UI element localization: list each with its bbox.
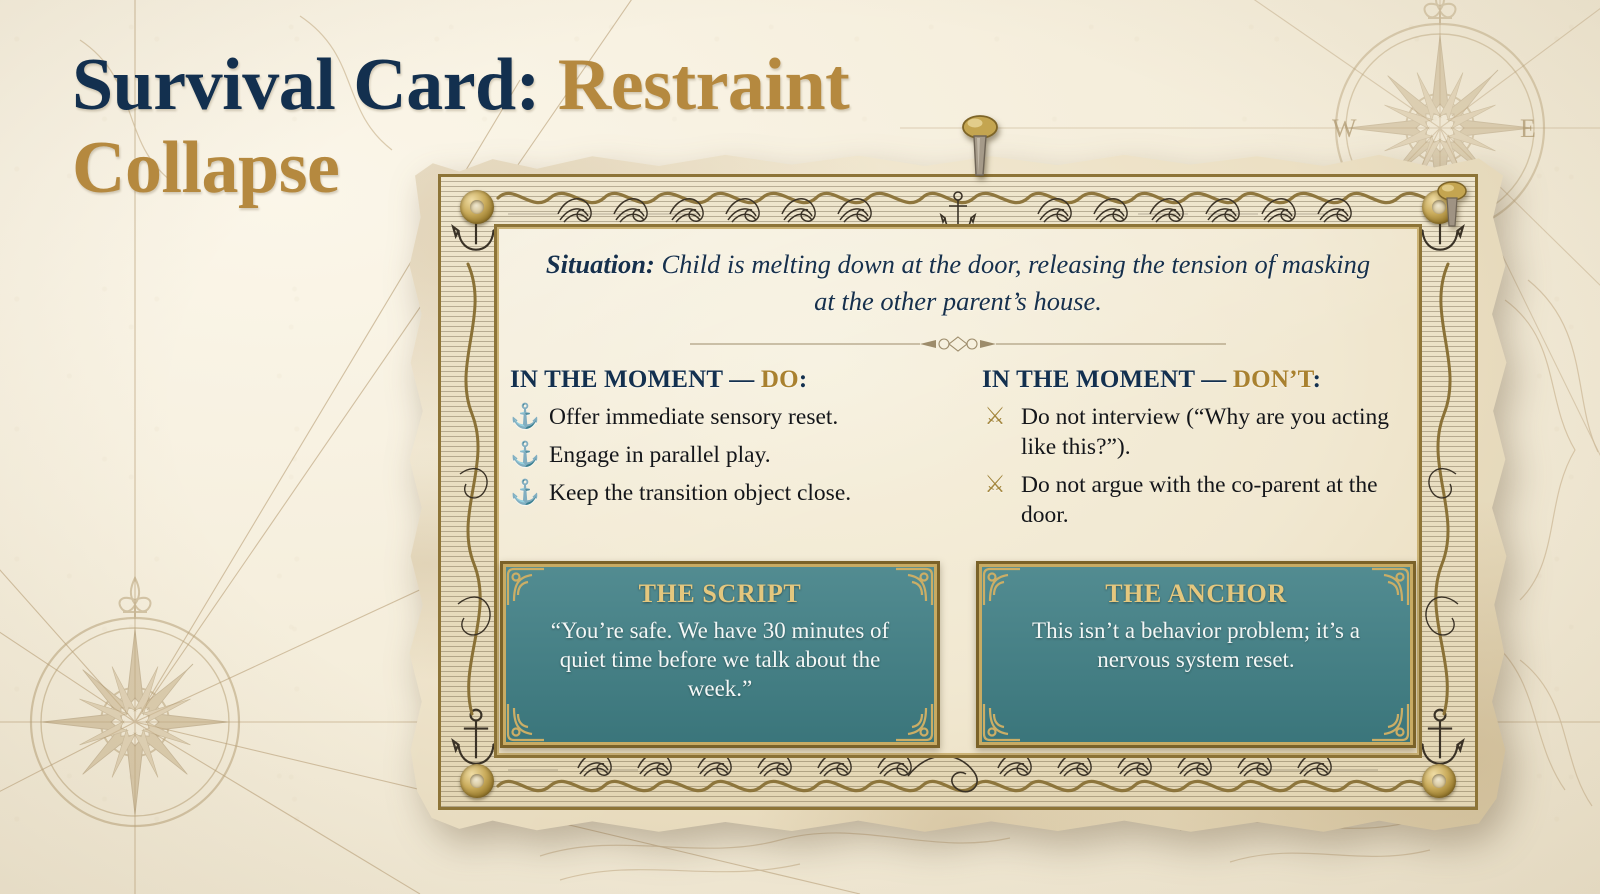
panel-the-script: THE SCRIPT “You’re safe. We have 30 minu… (500, 561, 940, 748)
poster-canvas: W E Survival Card: Restraint Collapse (0, 0, 1600, 894)
title-gold-part: Restraint (558, 44, 849, 126)
dont-list: ⚔ Do not interview (“Why are you acting … (982, 403, 1406, 530)
situation-label: Situation: (546, 249, 655, 279)
heading-accent: DON’T (1233, 366, 1313, 393)
list-item: ⚔ Do not interview (“Why are you acting … (982, 403, 1406, 463)
compass-label-west: W (1332, 114, 1357, 143)
heading-colon: : (1313, 366, 1322, 393)
crossed-anchors-icon: ⚔ (982, 403, 1008, 432)
card-content: Situation: Child is melting down at the … (500, 230, 1416, 754)
panel-title: THE SCRIPT (529, 579, 911, 609)
list-item: ⚓ Engage in parallel play. (510, 441, 934, 471)
brass-grommet-icon (460, 764, 494, 798)
anchor-icon: ⚓ (510, 441, 536, 470)
pushpin-icon (958, 113, 1002, 185)
corner-flourish-icon (504, 702, 546, 744)
anchor-icon: ⚓ (510, 479, 536, 508)
list-item-text: Do not interview (“Why are you acting li… (1021, 403, 1406, 463)
panel-body: “You’re safe. We have 30 minutes of quie… (529, 616, 911, 704)
survival-card: Situation: Child is melting down at the … (404, 148, 1512, 840)
list-item: ⚓ Offer immediate sensory reset. (510, 403, 934, 433)
highlight-panels: THE SCRIPT “You’re safe. We have 30 minu… (500, 539, 1416, 748)
situation-text: Child is melting down at the door, relea… (662, 249, 1371, 316)
crossed-anchors-icon: ⚔ (982, 471, 1008, 500)
do-list: ⚓ Offer immediate sensory reset. ⚓ Engag… (510, 403, 934, 509)
ornament-divider (688, 336, 1228, 352)
panel-the-anchor: THE ANCHOR This isn’t a behavior problem… (976, 561, 1416, 748)
heading-colon: : (799, 366, 808, 393)
pushpin-icon (1434, 180, 1470, 236)
heading-accent: DO (761, 366, 799, 393)
column-do: IN THE MOMENT — DO: ⚓ Offer immediate se… (510, 366, 934, 538)
corner-flourish-icon (980, 702, 1022, 744)
column-do-heading: IN THE MOMENT — DO: (510, 366, 934, 394)
title-gold-line2: Collapse (72, 127, 339, 209)
corner-flourish-icon (1370, 702, 1412, 744)
list-item-text: Keep the transition object close. (549, 479, 934, 509)
heading-main: IN THE MOMENT — (510, 366, 761, 393)
panel-title: THE ANCHOR (1005, 579, 1387, 609)
situation-statement: Situation: Child is melting down at the … (500, 230, 1416, 319)
corner-flourish-icon (894, 702, 936, 744)
anchor-icon: ⚓ (510, 403, 536, 432)
column-dont: IN THE MOMENT — DON’T: ⚔ Do not intervie… (982, 366, 1406, 538)
list-item: ⚓ Keep the transition object close. (510, 479, 934, 509)
compass-label-east: E (1520, 114, 1536, 143)
brass-grommet-icon (1422, 764, 1456, 798)
panel-body: This isn’t a behavior problem; it’s a ne… (1005, 616, 1387, 675)
list-item-text: Engage in parallel play. (549, 441, 934, 471)
parchment-sheet: Situation: Child is melting down at the … (404, 148, 1512, 840)
page-title: Survival Card: Restraint Collapse (72, 44, 952, 210)
heading-main: IN THE MOMENT — (982, 366, 1233, 393)
list-item-text: Offer immediate sensory reset. (549, 403, 934, 433)
column-dont-heading: IN THE MOMENT — DON’T: (982, 366, 1406, 394)
list-item: ⚔ Do not argue with the co-parent at the… (982, 471, 1406, 531)
list-item-text: Do not argue with the co-parent at the d… (1021, 471, 1406, 531)
title-navy-part: Survival Card: (72, 44, 540, 126)
advice-columns: IN THE MOMENT — DO: ⚓ Offer immediate se… (500, 352, 1416, 538)
